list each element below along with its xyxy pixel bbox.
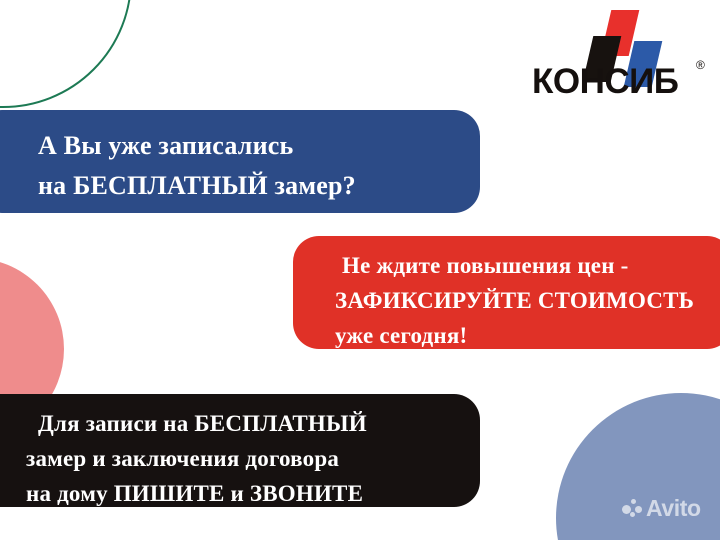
banner-black-line-3: на дому ПИШИТЕ и ЗВОНИТЕ	[26, 476, 480, 511]
registered-trademark-icon: ®	[696, 58, 705, 72]
banner-black-line-1: Для записи на БЕСПЛАТНЫЙ	[26, 406, 480, 441]
avito-watermark-label: Avito	[646, 497, 701, 520]
logo-wordmark: КОНСИБ	[532, 64, 714, 99]
banner-black-contact-cta: Для записи на БЕСПЛАТНЫЙ замер и заключе…	[0, 394, 480, 507]
banner-blue-line-2: на БЕСПЛАТНЫЙ замер?	[38, 166, 480, 206]
banner-blue-line-1: А Вы уже записались	[38, 126, 480, 166]
banner-red-line-2: ЗАФИКСИРУЙТЕ СТОИМОСТЬ	[335, 283, 720, 318]
poster-canvas: КОНСИБ ® А Вы уже записались на БЕСПЛАТН…	[0, 0, 720, 540]
avito-dots-icon	[622, 499, 641, 518]
avito-watermark: Avito	[622, 497, 701, 520]
banner-red-line-3: уже сегодня!	[335, 318, 720, 353]
banner-red-line-1: Не ждите повышения цен -	[335, 248, 720, 283]
konsib-logo: КОНСИБ ®	[532, 8, 714, 108]
logo-mark-group	[532, 8, 714, 68]
banner-black-line-2: замер и заключения договора	[26, 441, 480, 476]
banner-red-price-lock: Не ждите повышения цен - ЗАФИКСИРУЙТЕ СТ…	[293, 236, 720, 349]
banner-blue-free-measurement: А Вы уже записались на БЕСПЛАТНЫЙ замер?	[0, 110, 480, 213]
green-ring-decoration	[0, 0, 132, 108]
